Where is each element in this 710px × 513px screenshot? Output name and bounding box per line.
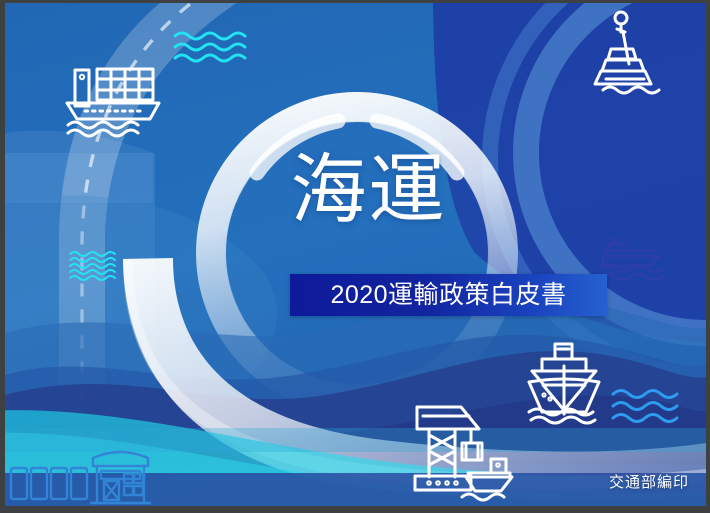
front-ship-icon	[529, 344, 599, 423]
wave-lines-icon-right	[613, 391, 677, 422]
buoy-icon	[595, 12, 659, 93]
container-row-icon	[11, 468, 87, 499]
decorative-icons-layer	[5, 3, 706, 506]
container-ship-icon	[67, 69, 159, 136]
cover-image-frame: 海運 2020運輸政策白皮書 交通部編印	[0, 0, 710, 513]
book-cover: 海運 2020運輸政策白皮書 交通部編印	[5, 3, 706, 506]
publisher-credit: 交通部編印	[609, 471, 689, 492]
wave-lines-icon-top	[175, 33, 245, 61]
warehouse-icon	[91, 452, 150, 503]
subtitle-banner: 2020運輸政策白皮書	[290, 274, 607, 316]
cover-subtitle: 2020運輸政策白皮書	[330, 283, 566, 308]
wave-lines-icon-left	[70, 252, 115, 280]
cruise-ship-icon	[599, 238, 663, 280]
